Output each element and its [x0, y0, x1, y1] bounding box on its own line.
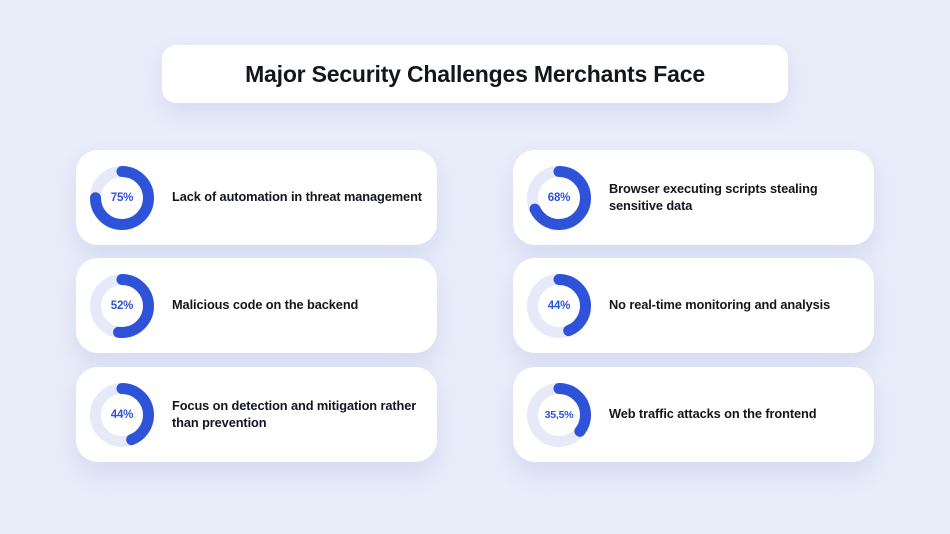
stat-card-label: Web traffic attacks on the frontend: [609, 406, 816, 423]
donut-value-label: 52%: [111, 300, 133, 312]
stat-card-label: Lack of automation in threat management: [172, 189, 422, 206]
stat-card: 75%Lack of automation in threat manageme…: [76, 150, 437, 245]
donut-gauge: 44%: [527, 274, 591, 338]
donut-gauge: 75%: [90, 166, 154, 230]
donut-gauge: 35,5%: [527, 383, 591, 447]
stat-card: 52%Malicious code on the backend: [76, 258, 437, 353]
donut-gauge: 44%: [90, 383, 154, 447]
donut-gauge: 68%: [527, 166, 591, 230]
title-banner: Major Security Challenges Merchants Face: [162, 45, 788, 103]
stat-card: 44%No real-time monitoring and analysis: [513, 258, 874, 353]
stat-card: 68%Browser executing scripts stealing se…: [513, 150, 874, 245]
stat-card-label: Malicious code on the backend: [172, 297, 358, 314]
donut-value-label: 75%: [111, 192, 133, 204]
page-title: Major Security Challenges Merchants Face: [245, 61, 705, 88]
infographic-stage: Major Security Challenges Merchants Face…: [0, 0, 950, 534]
donut-gauge: 52%: [90, 274, 154, 338]
stat-card: 44%Focus on detection and mitigation rat…: [76, 367, 437, 462]
donut-value-label: 68%: [548, 192, 570, 204]
stat-card: 35,5%Web traffic attacks on the frontend: [513, 367, 874, 462]
donut-value-label: 44%: [111, 409, 133, 421]
donut-value-label: 35,5%: [545, 409, 574, 421]
stat-card-label: Focus on detection and mitigation rather…: [172, 398, 423, 431]
stat-card-label: No real-time monitoring and analysis: [609, 297, 830, 314]
stat-card-grid: 75%Lack of automation in threat manageme…: [76, 150, 874, 462]
donut-value-label: 44%: [548, 300, 570, 312]
stat-card-label: Browser executing scripts stealing sensi…: [609, 181, 860, 214]
